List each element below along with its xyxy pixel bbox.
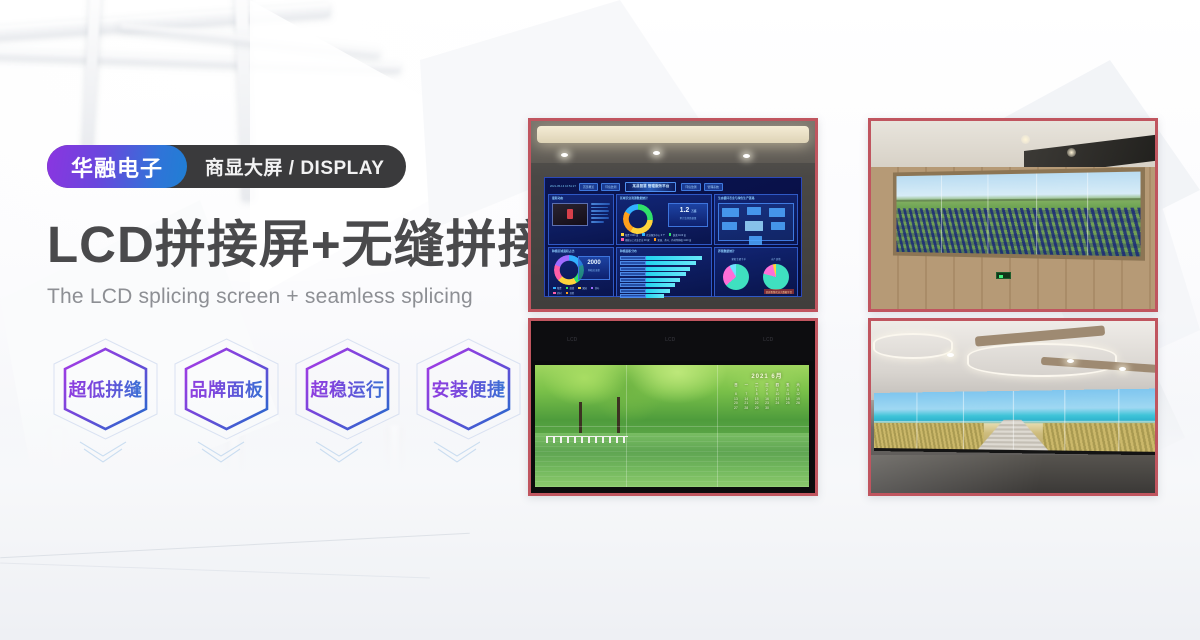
horizon-line — [897, 198, 1141, 202]
bar-row — [620, 289, 708, 293]
dashboard-card-breeding-stats: 养殖数据统计 家禽 生猪 牛羊水产 其他 某县智慧农业大数据平台 — [714, 247, 798, 298]
photo-content: 2021-05-13 10:51:27 首页概览 环境监测 某县智慧 管理服务平… — [531, 121, 815, 309]
flow-node — [769, 208, 785, 217]
day: 23 — [762, 401, 772, 405]
flow-diagram — [718, 203, 794, 241]
day: 17 — [772, 397, 782, 401]
bar-row — [620, 294, 708, 298]
day: 7 — [741, 392, 751, 396]
flow-node — [722, 222, 737, 230]
calendar-overlay: 2021 6月 日一 二三 四五 六 1 234 567 8910 111213… — [731, 371, 803, 427]
dashboard-card-area-ratio: 种植区域面积占比 2000 种植总面积 粮食 蔬菜 果园 — [548, 247, 614, 298]
video-wall-screen — [897, 171, 1141, 256]
solar-panel-array — [897, 207, 1141, 256]
banner-stage: 华融电子 商显大屏 / DISPLAY LCD拼接屏+无缝拼接 The LCD … — [0, 0, 1200, 640]
bar-row — [620, 261, 708, 265]
wall-label: LCD — [763, 337, 773, 343]
cove-light — [537, 126, 809, 143]
photo-content — [871, 321, 1155, 493]
feature-label: 超稳运行 — [289, 376, 406, 402]
flow-node — [771, 222, 785, 230]
video-wall-screen — [874, 389, 1155, 457]
flow-node — [747, 207, 761, 215]
video-wall-frame — [893, 167, 1145, 261]
kpi-value: 1.2 — [680, 207, 690, 214]
legend-item: 规模以上农业企业 48 家 — [621, 238, 650, 242]
spot-light — [1119, 367, 1126, 371]
legend-item: 果园 — [578, 286, 587, 290]
dashboard-header: 2021-05-13 10:51:27 首页概览 环境监测 某县智慧 管理服务平… — [548, 181, 798, 192]
day: 1 — [752, 388, 762, 392]
photo-content: LCD LCD LCD 2021 6月 日 — [531, 321, 815, 493]
weekday: 一 — [741, 382, 751, 387]
dashboard-tab[interactable]: 首页概览 — [579, 183, 598, 191]
page-title: LCD拼接屏+无缝拼接 — [47, 218, 517, 272]
wall-label: LCD — [665, 337, 675, 343]
day: 14 — [741, 397, 751, 401]
day: 11 — [783, 392, 793, 396]
day: 22 — [752, 401, 762, 405]
legend-item: 蔬菜 — [566, 286, 575, 290]
legend-item: 农业服务中心 6 个 — [642, 233, 665, 237]
pie-chart — [763, 264, 789, 290]
brand-badge[interactable]: 华融电子 商显大屏 / DISPLAY — [47, 145, 406, 188]
dashboard-card-area-distribution: 种植面积分布 — [616, 247, 712, 298]
day: 8 — [752, 392, 762, 396]
donut-chart — [623, 204, 653, 234]
dashboard-card-news: 最新动态 — [548, 194, 614, 245]
feature-label: 品牌面板 — [168, 376, 285, 402]
legend-item: 粮食 1524 亩 — [621, 233, 638, 237]
flow-node — [749, 236, 762, 245]
news-thumbnail — [552, 203, 588, 226]
feature-label: 超低拼缝 — [47, 376, 164, 402]
day: 19 — [793, 397, 803, 401]
kpi-secondary: 2000 种植总面积 — [578, 256, 610, 280]
weekday: 四 — [772, 382, 782, 387]
news-text-lines — [591, 203, 610, 225]
legend-item: 药材 — [553, 291, 562, 295]
bar-row — [620, 267, 708, 271]
card-title: 区域农业资源数据统计 — [620, 196, 648, 200]
kpi-unit: 万座 — [691, 210, 696, 213]
beach-grass — [874, 423, 983, 450]
kpi-main: 1.2 万座 累计监测数据量 — [668, 203, 708, 227]
dashboard-timestamp: 2021-05-13 10:51:27 — [550, 185, 576, 188]
dashboard-tab[interactable]: 管理系统 — [704, 183, 723, 191]
day: 13 — [731, 397, 741, 401]
card-title: 养殖数据统计 — [718, 249, 735, 253]
day — [731, 388, 741, 392]
pie-charts — [719, 264, 793, 290]
legend-item: 蔬菜 1100 亩 — [669, 233, 686, 237]
day: 4 — [783, 388, 793, 392]
kpi-label: 累计监测数据量 — [669, 216, 707, 220]
wall-top-strip: LCD LCD LCD — [533, 323, 813, 361]
photo-content — [871, 121, 1155, 309]
exit-sign — [996, 272, 1011, 279]
card-title: 种植区域面积占比 — [552, 249, 574, 253]
photo-solar-farm-video-wall[interactable] — [868, 118, 1158, 312]
calendar-header: 2021 6月 — [731, 371, 803, 380]
day: 27 — [731, 406, 741, 410]
legend-item: 粮食 — [553, 286, 562, 290]
day: 28 — [741, 406, 751, 410]
flow-node — [722, 208, 739, 217]
dashboard-watermark: 某县智慧农业大数据平台 — [764, 289, 794, 294]
legend-item: 茶叶 — [591, 286, 600, 290]
day: 21 — [741, 401, 751, 405]
feature-item-ultra-low-seam[interactable]: 超低拼缝 — [47, 333, 164, 445]
spot-light — [653, 151, 660, 155]
day: 9 — [762, 392, 772, 396]
spot-light — [947, 353, 954, 357]
video-wall-screen: 2021 6月 日一 二三 四五 六 1 234 567 8910 111213… — [535, 365, 809, 487]
dashboard-title: 某县智慧 管理服务平台 — [625, 182, 676, 192]
card-title: 种植面积分布 — [620, 249, 637, 253]
dashboard-tab[interactable]: 环境监测 — [681, 183, 700, 191]
legend-item: 果园、茶叶、药材等种植 1120 亩 — [654, 238, 692, 242]
day: 10 — [772, 392, 782, 396]
day: 12 — [793, 392, 803, 396]
badge-category: 商显大屏 / DISPLAY — [187, 153, 384, 180]
pie-chart — [723, 264, 749, 290]
photo-beach-boardwalk-video-wall[interactable] — [868, 318, 1158, 496]
bar-row — [620, 278, 708, 282]
dashboard-card-resource-stats: 区域农业资源数据统计 1.2 万座 累计监测数据量 粮食 1524 亩 农业服务 — [616, 194, 712, 245]
day: 18 — [783, 397, 793, 401]
day: 3 — [772, 388, 782, 392]
weekday: 二 — [752, 382, 762, 387]
day: 29 — [752, 406, 762, 410]
kpi-label: 种植总面积 — [579, 268, 609, 272]
spot-light — [561, 153, 568, 157]
card-title: 最新动态 — [552, 196, 563, 200]
dashboard-row-top: 最新动态 区域农业资源数据统计 — [548, 194, 798, 245]
dashboard-card-flow-diagram: 生态循环农业与绿色生产链路 — [714, 194, 798, 245]
bar-chart — [620, 256, 708, 295]
donut-legend: 粮食 1524 亩 农业服务中心 6 个 蔬菜 1100 亩 规模以上农业企业 … — [621, 233, 708, 242]
weekday: 日 — [731, 382, 741, 387]
photo-dashboard-video-wall[interactable]: 2021-05-13 10:51:27 首页概览 环境监测 某县智慧 管理服务平… — [528, 118, 818, 312]
lobby-floor — [871, 455, 1155, 493]
day — [741, 388, 751, 392]
weekday: 五 — [783, 382, 793, 387]
spot-light — [1067, 359, 1074, 363]
day: 30 — [762, 406, 772, 410]
calendar-grid: 日一 二三 四五 六 1 234 567 8910 111213 141516 … — [731, 382, 803, 410]
day: 25 — [783, 401, 793, 405]
ceiling-light — [1021, 135, 1030, 144]
feature-item-brand-panel[interactable]: 品牌面板 — [168, 333, 285, 445]
feature-label: 安装便捷 — [410, 376, 527, 402]
day: 26 — [793, 401, 803, 405]
wall-label: LCD — [567, 337, 577, 343]
pie-legend: 家禽 生猪 牛羊水产 其他 — [719, 257, 793, 261]
left-content: 华融电子 商显大屏 / DISPLAY LCD拼接屏+无缝拼接 The LCD … — [47, 145, 517, 309]
ceiling-light — [1067, 148, 1076, 157]
dashboard-body: 最新动态 区域农业资源数据统计 — [548, 194, 798, 297]
day: 20 — [731, 401, 741, 405]
feature-item-easy-installation[interactable]: 安装便捷 — [410, 333, 527, 445]
dashboard-tab[interactable]: 环境监测 — [601, 183, 620, 191]
day: 6 — [731, 392, 741, 396]
legend-item: 其他 — [566, 291, 575, 295]
spot-light — [743, 154, 750, 158]
area-legend: 粮食 蔬菜 果园 茶叶 药材 其他 — [553, 286, 610, 295]
lake-railing — [546, 436, 628, 443]
card-title: 生态循环农业与绿色生产链路 — [718, 196, 754, 200]
day: 15 — [752, 397, 762, 401]
day: 2 — [762, 388, 772, 392]
photo-willow-lake-video-wall[interactable]: LCD LCD LCD 2021 6月 日 — [528, 318, 818, 496]
weekday: 三 — [762, 382, 772, 387]
bar-row — [620, 256, 708, 260]
brand-name: 华融电子 — [47, 145, 187, 188]
ring-light — [873, 333, 953, 359]
feature-list: 超低拼缝 品牌面板 — [47, 333, 527, 445]
beach-grass — [1042, 423, 1155, 453]
page-subtitle: The LCD splicing screen + seamless splic… — [47, 285, 517, 309]
bar-row — [620, 272, 708, 276]
dashboard-row-bottom: 种植区域面积占比 2000 种植总面积 粮食 蔬菜 果园 — [548, 247, 798, 298]
weekday: 六 — [793, 382, 803, 387]
bar-row — [620, 283, 708, 287]
day: 5 — [793, 388, 803, 392]
flow-node — [745, 221, 763, 231]
dashboard-screen: 2021-05-13 10:51:27 首页概览 环境监测 某县智慧 管理服务平… — [544, 177, 802, 297]
feature-item-ultra-stable-operation[interactable]: 超稳运行 — [289, 333, 406, 445]
kpi-value: 2000 — [587, 260, 600, 266]
day: 16 — [762, 397, 772, 401]
day: 24 — [772, 401, 782, 405]
